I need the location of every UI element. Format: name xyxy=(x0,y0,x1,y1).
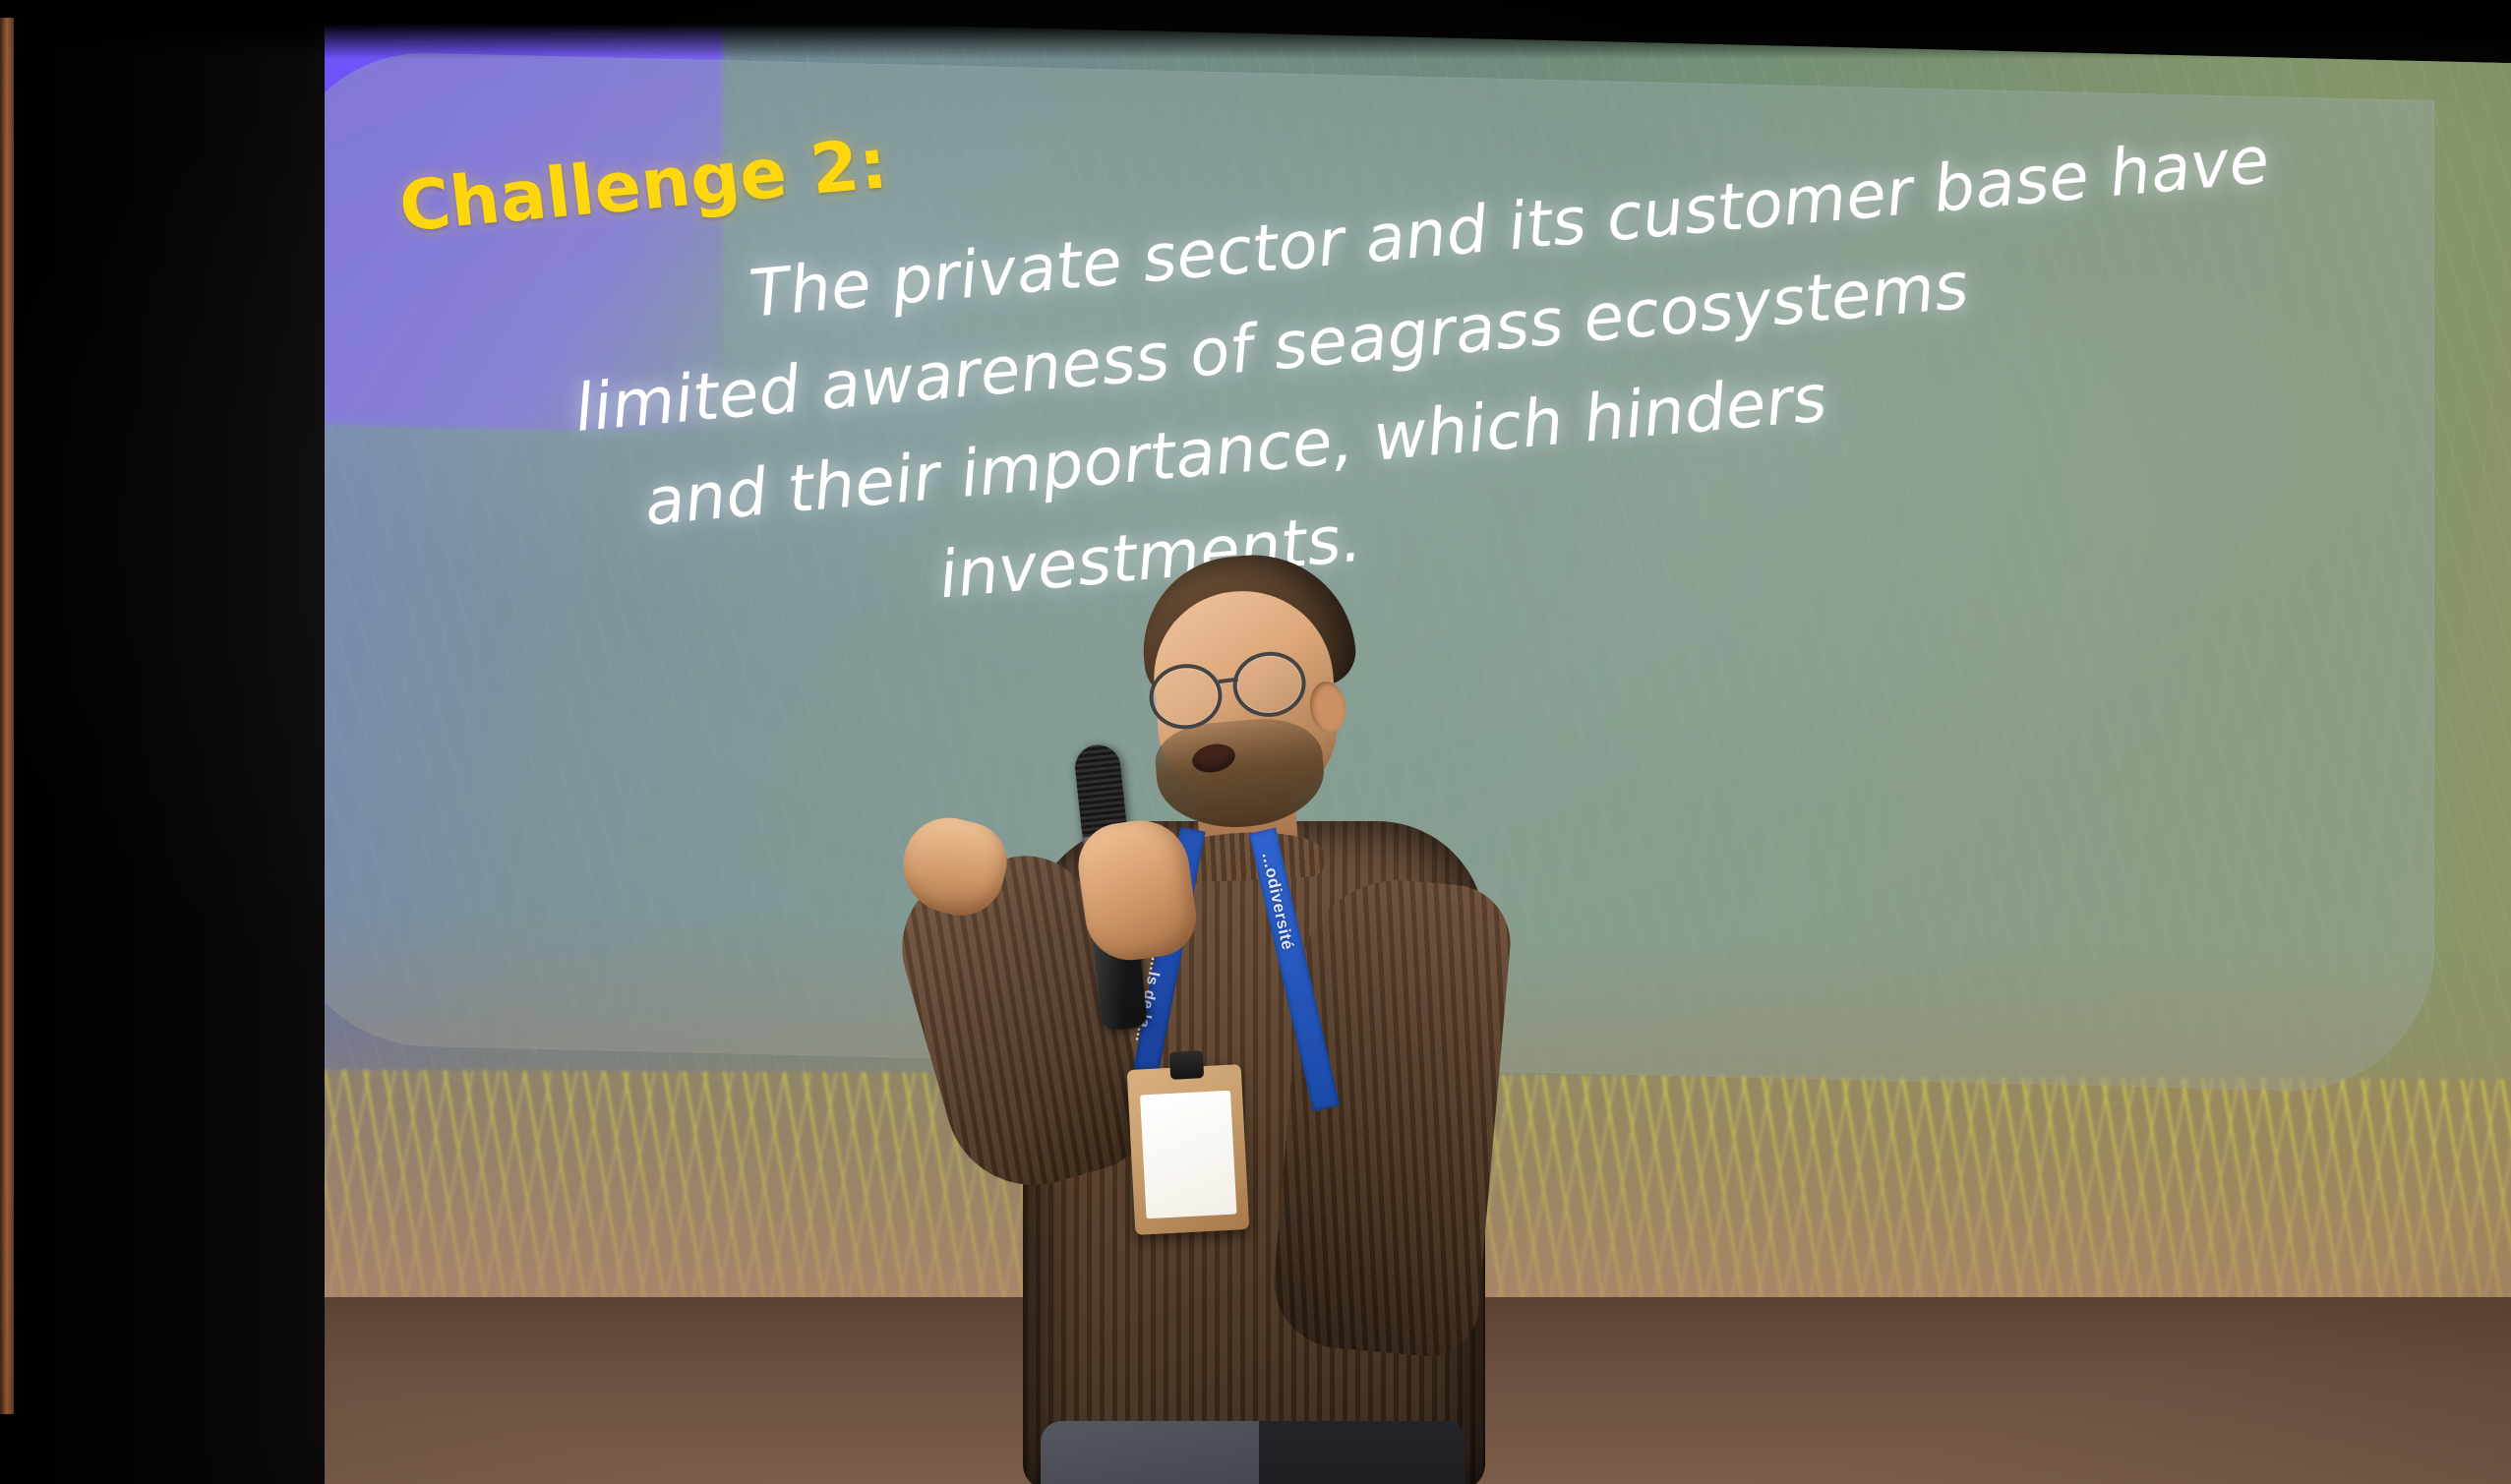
dark-room-left-edge xyxy=(0,0,325,1484)
presentation-photo-stage: Challenge 2: The private sector and its … xyxy=(0,0,2511,1484)
conference-badge xyxy=(1127,1064,1250,1235)
badge-clip xyxy=(1169,1050,1204,1080)
screen-frame-edge xyxy=(0,18,14,1414)
presenter-figure: ...odiversité ...ls de la... xyxy=(964,536,1515,1484)
slide-kicker-challenge-2: Challenge 2: xyxy=(395,123,891,247)
glasses-lens-right xyxy=(1229,648,1309,722)
presenter-trousers-shadow xyxy=(1259,1421,1465,1484)
badge-card xyxy=(1140,1091,1236,1219)
presenter-right-arm xyxy=(1268,872,1515,1360)
glasses-lens-left xyxy=(1146,660,1226,734)
dark-room-top-edge xyxy=(0,0,2511,59)
